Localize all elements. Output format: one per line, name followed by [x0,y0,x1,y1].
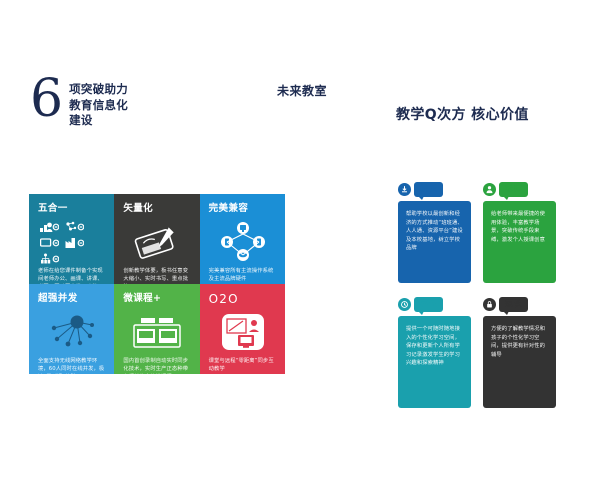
tile-vectorization[interactable]: 矢量化 创新教学体要，板书任意变大缩小、实时书写、重点批注 [114,194,199,284]
persona-label: 学生 [414,297,443,312]
student-clock-icon [398,298,411,311]
persona-header: 老师 [483,181,556,197]
persona-body: 帮助学校以最创新和经济的方式推动“班班通、人人通、资源平台”建设及本校基地，树立… [398,201,471,283]
tile-compatibility[interactable]: 完美兼容 完美兼容所有主流操作系统及主流品牌硬件 [200,194,285,284]
tile-description: 全面支持无线网络教学环境，60人同时在线并发，极速“零延迟”体验 [38,357,106,374]
tile-title: 五合一 [38,203,106,215]
right-heading: 教学Q次方 核心价值 [396,104,529,124]
tile-description: 创新教学体要，板书任意变大缩小、实时书写、重点批注 [123,267,191,284]
tile-title: 微课程+ [123,293,191,305]
multi-device-icons [38,220,106,264]
persona-label: 校长 [414,182,443,197]
device-network-icon [209,220,277,264]
teacher-person-icon [483,183,496,196]
lock-icon [483,298,496,311]
screen-icon [39,236,59,249]
share-nodes-icon [64,220,84,233]
factory-icon [64,236,84,249]
heading-line-1: 项突破助力 [69,82,128,98]
user-download-icon [398,183,411,196]
heading-line-3: 建设 [69,113,128,129]
persona-description: 帮助学校以最创新和经济的方式推动“班班通、人人通、资源平台”建设及本校基地，树立… [406,210,463,253]
left-heading: 6 项突破助力 教育信息化 建设 [30,78,128,129]
screens-icon [123,310,191,354]
tile-description: 完美兼容所有主流操作系统及主流品牌硬件 [209,267,277,283]
persona-header: 家长 [483,296,556,312]
tile-title: 超强并发 [38,293,106,305]
tile-concurrency[interactable]: 超强并发 全面支持无线网络教学环境，60人同时在线并发，极速“零延迟”体验 [29,284,114,374]
persona-label: 老师 [499,182,528,197]
persona-card-principal[interactable]: 校长 帮助学校以最创新和经济的方式推动“班班通、人人通、资源平台”建设及本校基地… [398,181,471,283]
persona-label: 家长 [499,297,528,312]
persona-header: 校长 [398,181,471,197]
tile-description: 国内首创录制自动实时同步化技术，实时生产正态种带有相关信息的微课程 [123,357,191,374]
persona-body: 给老师带来最便捷的使用体验，丰富教学场景，突破传统手段束缚，激发个人授课创意 [483,201,556,283]
heading-lines: 项突破助力 教育信息化 建设 [69,82,128,129]
tile-micro-course[interactable]: 微课程+ 国内首创录制自动实时同步化技术，实时生产正态种带有相关信息的微课程 [114,284,199,374]
feature-tile-grid: 五合一 [29,194,285,374]
tile-description: 老师在给您课件制备个实现间老师办公、画课、讲课、书写、互动互大常用功能于一体 [38,267,106,284]
tile-title: O2O [209,293,277,305]
tile-description: 课堂与远程“零距离”同步互动教学 [209,357,277,373]
remote-sync-icon [209,310,277,354]
center-heading: 未来教室 [277,82,327,99]
persona-card-student[interactable]: 学生 提供一个可随时随地接入的个性化学习空间，保存和更新个人所有学习记录激发学生… [398,296,471,408]
heading-line-2: 教育信息化 [69,98,128,114]
node-burst-icon [38,310,106,354]
persona-description: 给老师带来最便捷的使用体验，丰富教学场景，突破传统手段束缚，激发个人授课创意 [491,210,548,244]
hierarchy-icon [39,252,59,265]
tile-title: 矢量化 [123,203,191,215]
persona-description: 提供一个可随时随地接入的个性化学习空间，保存和更新个人所有学习记录激发学生的学习… [406,325,463,368]
persona-description: 方便的了解教学情况和孩子的个性化学习空间，提供更有针对性的辅导 [491,325,548,359]
persona-card-parent[interactable]: 家长 方便的了解教学情况和孩子的个性化学习空间，提供更有针对性的辅导 [483,296,556,408]
persona-body: 方便的了解教学情况和孩子的个性化学习空间，提供更有针对性的辅导 [483,316,556,408]
persona-card-grid: 校长 帮助学校以最创新和经济的方式推动“班班通、人人通、资源平台”建设及本校基地… [398,181,556,408]
tile-five-in-one[interactable]: 五合一 [29,194,114,284]
persona-body: 提供一个可随时随地接入的个性化学习空间，保存和更新个人所有学习记录激发学生的学习… [398,316,471,408]
persona-card-teacher[interactable]: 老师 给老师带来最便捷的使用体验，丰富教学场景，突破传统手段束缚，激发个人授课创… [483,181,556,283]
tile-o2o[interactable]: O2O 课堂与远程“零距离”同步互动教学 [200,284,285,374]
tablet-stylus-icon [123,220,191,264]
persona-header: 学生 [398,296,471,312]
heading-number: 6 [30,76,63,124]
presenter-icon [39,220,59,233]
tile-title: 完美兼容 [209,203,277,215]
